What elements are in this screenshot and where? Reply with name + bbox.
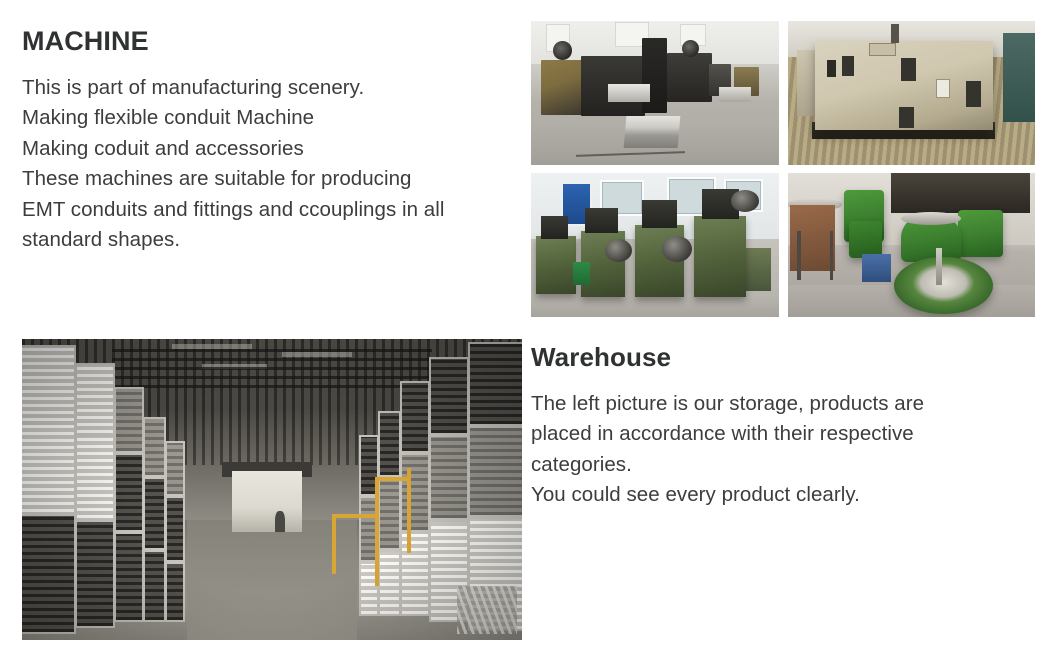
photo2-panel xyxy=(842,56,854,76)
photo2-side-machine xyxy=(1003,33,1035,122)
warehouse-storage-photo xyxy=(22,339,522,640)
warehouse-vignette xyxy=(22,339,522,640)
photo2-panel xyxy=(827,60,836,77)
photo3-press xyxy=(694,216,746,297)
photo1-machine xyxy=(642,38,667,113)
photo4-rack-leg xyxy=(797,231,801,280)
photo4-crate xyxy=(862,254,892,283)
photo4-rack-leg xyxy=(830,231,834,280)
photo3-press-head xyxy=(642,200,677,227)
machine-photo-4 xyxy=(788,173,1036,317)
photo3-press-head xyxy=(585,208,617,234)
machine-photo-1 xyxy=(531,21,779,165)
machine-section: MACHINE This is part of manufacturing sc… xyxy=(22,27,522,256)
machine-description: This is part of manufacturing scenery. M… xyxy=(22,73,522,256)
product-detail-page: MACHINE This is part of manufacturing sc… xyxy=(0,0,1060,661)
warehouse-heading: Warehouse xyxy=(531,343,1031,372)
photo2-panel xyxy=(901,58,916,81)
machine-photo-grid xyxy=(531,21,1035,317)
photo2-panel xyxy=(899,107,914,127)
photo3-press xyxy=(536,236,576,294)
photo3-flywheel xyxy=(662,236,692,262)
photo1-pallet xyxy=(608,84,650,101)
photo4-green-drum xyxy=(958,210,1003,256)
photo2-label xyxy=(936,79,950,98)
photo2-panel xyxy=(966,81,981,107)
warehouse-description: The left picture is our storage, product… xyxy=(531,389,1031,511)
machine-photo-3 xyxy=(531,173,779,317)
photo4-coiler-reel xyxy=(894,257,993,315)
photo4-green-drum xyxy=(849,221,881,258)
warehouse-section: Warehouse The left picture is our storag… xyxy=(531,343,1031,511)
photo1-machine xyxy=(667,53,712,102)
photo1-pallet xyxy=(624,116,681,148)
photo1-pallet xyxy=(719,87,751,101)
photo3-green-bin xyxy=(573,262,590,285)
photo3-press-head xyxy=(541,216,568,239)
photo4-drum-rim xyxy=(901,212,960,225)
photo2-plate xyxy=(869,43,896,57)
machine-heading: MACHINE xyxy=(22,27,522,57)
photo3-flywheel xyxy=(731,190,758,212)
machine-photo-2 xyxy=(788,21,1036,165)
photo2-duct xyxy=(891,24,898,43)
photo3-flywheel xyxy=(605,239,632,262)
photo1-flywheel xyxy=(553,41,572,60)
photo4-dark-machinery xyxy=(891,173,1030,213)
photo4-spindle xyxy=(936,248,942,285)
photo3-ground xyxy=(531,294,779,317)
